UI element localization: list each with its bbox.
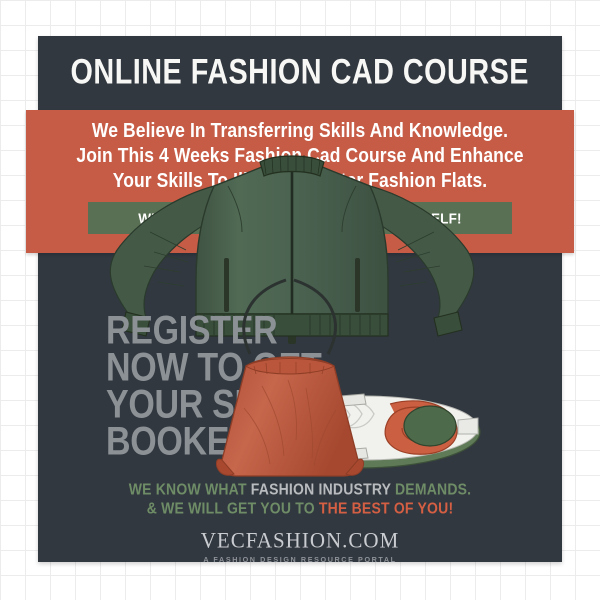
tagline-1-part-b: FASHION INDUSTRY bbox=[251, 480, 395, 498]
tagline-1-part-a: WE KNOW WHAT bbox=[129, 480, 251, 498]
tagline-line-2: & WE WILL GET YOU TO THE BEST OF YOU! bbox=[38, 498, 562, 519]
headline-block: REGISTER NOW TO GET YOUR SEAT BOOKED! bbox=[106, 310, 321, 458]
tagline-2-part-b: THE BEST OF YOU! bbox=[319, 499, 453, 517]
promo-banner: We Believe In Transferring Skills And Kn… bbox=[26, 110, 574, 253]
tagline-2-part-a: & WE WILL GET YOU TO bbox=[147, 499, 319, 517]
brand-name: VECFASHION.COM bbox=[38, 527, 562, 553]
tagline-1-part-c: DEMANDS. bbox=[395, 480, 471, 498]
headline-line-4: BOOKED! bbox=[106, 421, 321, 464]
poster-title-bar: ONLINE FASHION CAD COURSE bbox=[38, 36, 562, 110]
page-title: ONLINE FASHION CAD COURSE bbox=[71, 53, 529, 93]
cta-bar[interactable]: WHY BUYING? LEARN IT AND DO IT YOURSELF! bbox=[88, 202, 512, 234]
poster-canvas: REGISTER NOW TO GET YOUR SEAT BOOKED! WE… bbox=[0, 0, 600, 600]
brand-subtitle: A FASHION DESIGN RESOURCE PORTAL bbox=[38, 555, 562, 562]
cta-label: WHY BUYING? LEARN IT AND DO IT YOURSELF! bbox=[138, 210, 462, 227]
banner-line-3: Your Skills To Illustrate Better Fashion… bbox=[113, 166, 488, 195]
footer-block: WE KNOW WHAT FASHION INDUSTRY DEMANDS. &… bbox=[38, 480, 562, 562]
